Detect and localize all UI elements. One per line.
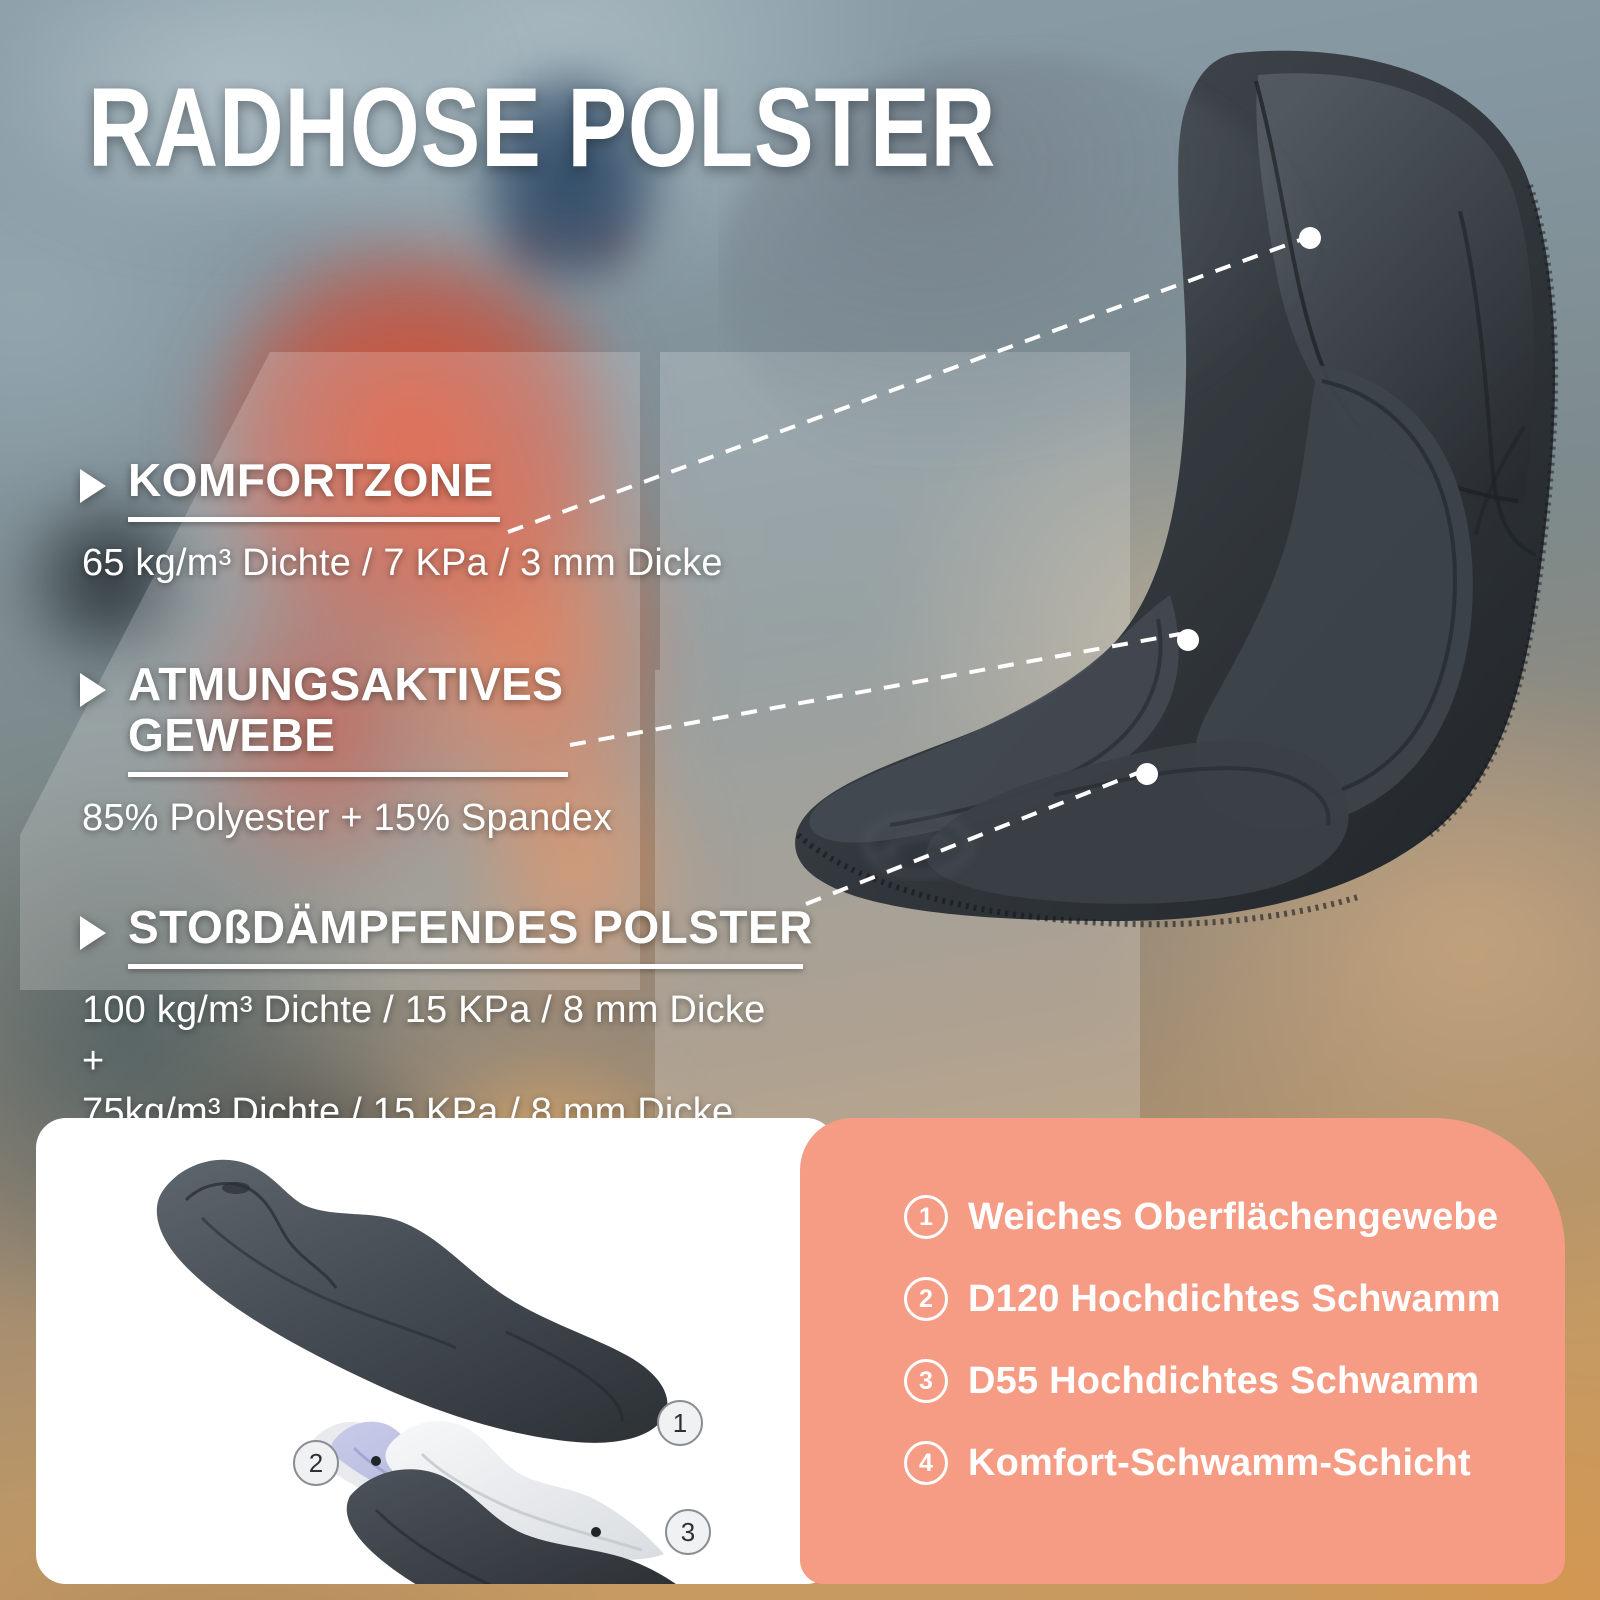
legend-label: D55 Hochdichtes Schwamm — [968, 1360, 1479, 1403]
exploded-callout-3: 3 — [666, 1510, 710, 1554]
legend-number-badge: 1 — [904, 1195, 948, 1239]
feature-komfortzone: KOMFORTZONE 65 kg/m³ Dichte / 7 KPa / 3 … — [80, 455, 910, 589]
svg-text:1: 1 — [673, 1408, 687, 1438]
feature-title: ATMUNGSAKTIVES GEWEBE — [128, 659, 564, 762]
exploded-layer-diagram: 1 2 3 4 — [36, 1118, 836, 1584]
page-title: RADHOSE POLSTER — [88, 72, 996, 184]
feature-title: KOMFORTZONE — [128, 455, 494, 507]
triangle-right-icon — [80, 469, 106, 503]
legend-item-3: 3 D55 Hochdichtes Schwamm — [904, 1340, 1565, 1422]
callout-dot-gewebe — [1177, 629, 1199, 651]
feature-subtitle: 100 kg/m³ Dichte / 15 KPa / 8 mm Dicke +… — [82, 985, 910, 1139]
legend-number-badge: 2 — [904, 1277, 948, 1321]
feature-atmungsaktives-gewebe: ATMUNGSAKTIVES GEWEBE 85% Polyester + 15… — [80, 659, 910, 844]
infographic-canvas: RADHOSE POLSTER KOMFORTZONE 65 kg/m³ Dic… — [0, 0, 1600, 1600]
callout-dot-polster — [1136, 763, 1158, 785]
legend-label: Weiches Oberflächengewebe — [968, 1196, 1498, 1239]
feature-underline — [128, 517, 500, 522]
feature-title-line1: ATMUNGSAKTIVES — [128, 658, 564, 710]
feature-title: STOßDÄMPFENDES POLSTER — [128, 902, 813, 954]
feature-subtitle-line2: + — [82, 1040, 104, 1082]
legend-label: Komfort-Schwamm-Schicht — [968, 1442, 1471, 1485]
legend-item-2: 2 D120 Hochdichtes Schwamm — [904, 1258, 1565, 1340]
feature-stossdaempfendes-polster: STOßDÄMPFENDES POLSTER 100 kg/m³ Dichte … — [80, 902, 910, 1138]
legend-number-badge: 4 — [904, 1441, 948, 1485]
svg-text:3: 3 — [681, 1517, 695, 1547]
feature-title-line2: GEWEBE — [128, 709, 335, 761]
feature-subtitle: 65 kg/m³ Dichte / 7 KPa / 3 mm Dicke — [82, 538, 910, 589]
legend-item-4: 4 Komfort-Schwamm-Schicht — [904, 1422, 1565, 1504]
feature-underline — [128, 964, 803, 969]
svg-text:2: 2 — [309, 1448, 323, 1478]
legend-number-badge: 3 — [904, 1359, 948, 1403]
feature-list: KOMFORTZONE 65 kg/m³ Dichte / 7 KPa / 3 … — [80, 455, 910, 1145]
legend-item-1: 1 Weiches Oberflächengewebe — [904, 1176, 1565, 1258]
triangle-right-icon — [80, 916, 106, 950]
feature-subtitle: 85% Polyester + 15% Spandex — [82, 793, 910, 844]
triangle-right-icon — [80, 673, 106, 707]
feature-underline — [128, 772, 568, 777]
legend-panel: 1 Weiches Oberflächengewebe 2 D120 Hochd… — [800, 1118, 1565, 1584]
callout-dot-komfortzone — [1299, 227, 1321, 249]
exploded-callout-2: 2 — [294, 1441, 338, 1485]
exploded-callout-1: 1 — [658, 1401, 702, 1445]
legend-label: D120 Hochdichtes Schwamm — [968, 1278, 1501, 1321]
feature-subtitle-line1: 100 kg/m³ Dichte / 15 KPa / 8 mm Dicke — [82, 989, 765, 1031]
exploded-layer-1 — [157, 1160, 668, 1443]
